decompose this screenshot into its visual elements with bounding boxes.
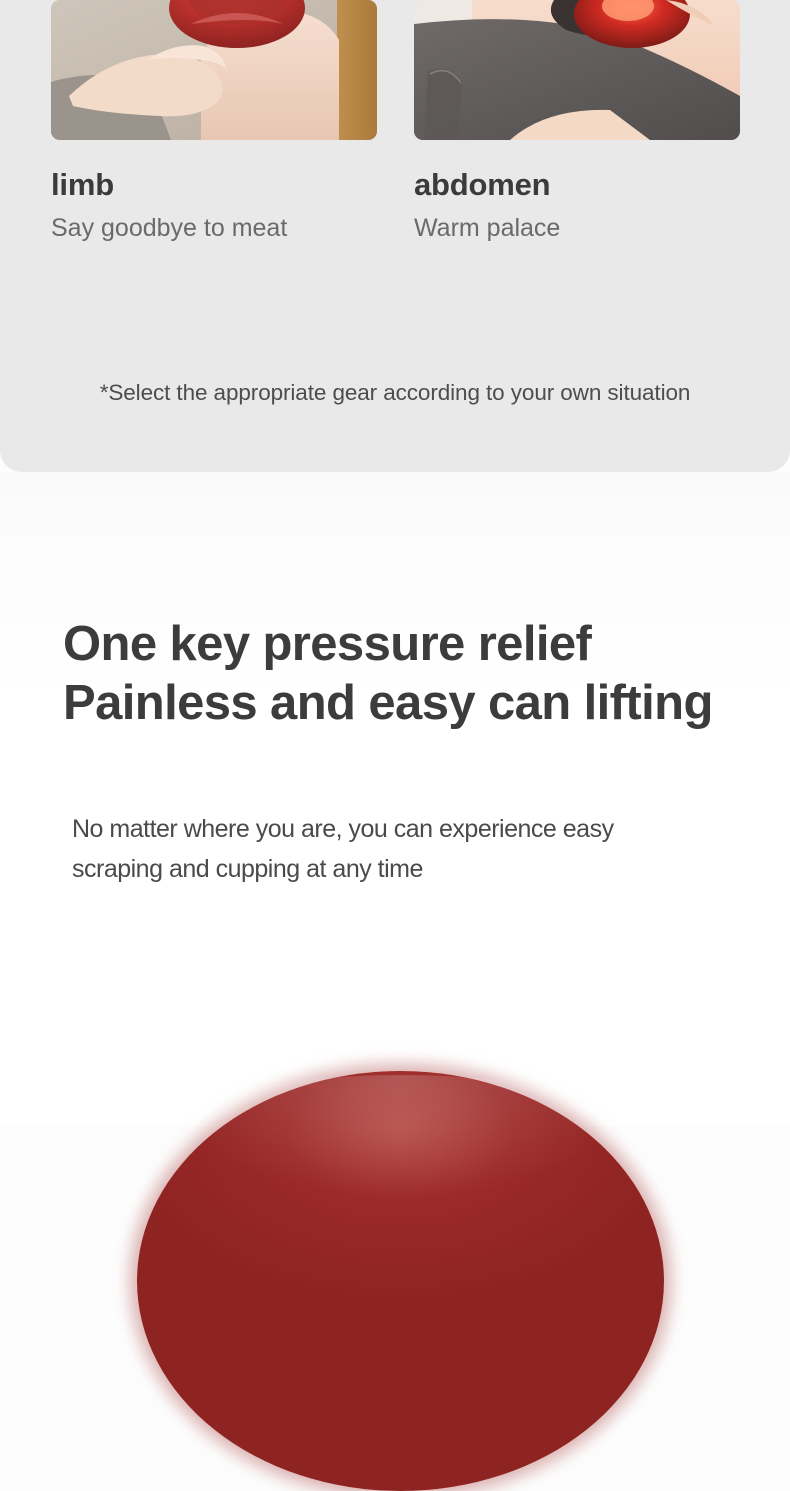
scenario-title: abdomen bbox=[414, 169, 740, 200]
scenario-grid: limb Say goodbye to meat bbox=[51, 0, 740, 241]
pressure-relief-headline: One key pressure relief Painless and eas… bbox=[63, 615, 713, 734]
red-cupping-device bbox=[137, 1071, 664, 1491]
scenario-subtitle: Say goodbye to meat bbox=[51, 216, 377, 241]
scenario-subtitle: Warm palace bbox=[414, 216, 740, 241]
usage-scenarios-card: limb Say goodbye to meat bbox=[0, 0, 790, 472]
gear-selection-note: *Select the appropriate gear according t… bbox=[0, 380, 790, 406]
pressure-relief-section: One key pressure relief Painless and eas… bbox=[0, 472, 790, 1126]
limb-treatment-photo bbox=[51, 0, 377, 140]
scenario-card-abdomen[interactable]: abdomen Warm palace bbox=[414, 0, 740, 241]
abdomen-treatment-photo bbox=[414, 0, 740, 140]
scenario-card-limb[interactable]: limb Say goodbye to meat bbox=[51, 0, 377, 241]
pressure-relief-subcopy: No matter where you are, you can experie… bbox=[72, 809, 732, 889]
scenario-title: limb bbox=[51, 169, 377, 200]
